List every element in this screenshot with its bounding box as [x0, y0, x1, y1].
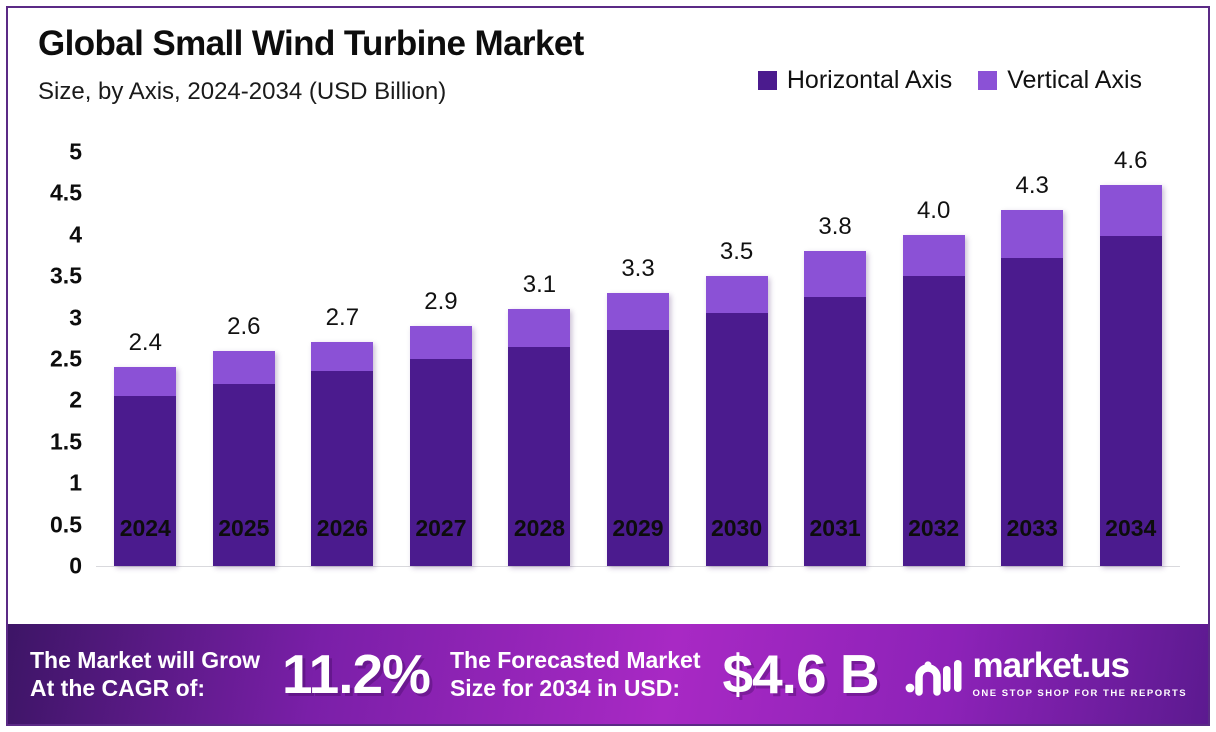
bar-value-label: 3.3 — [621, 255, 654, 283]
bar-segment-vertical-axis[interactable] — [508, 309, 570, 346]
market-us-logo-icon — [905, 652, 963, 696]
footer-size-value: $4.6 B — [723, 642, 879, 706]
bar-value-label: 2.9 — [424, 288, 457, 316]
y-axis-tick-label: 4 — [69, 221, 82, 248]
footer-size-label-line1: The Forecasted Market — [450, 646, 701, 674]
bar-value-label: 4.6 — [1114, 147, 1147, 175]
chart-subtitle: Size, by Axis, 2024-2034 (USD Billion) — [38, 78, 446, 106]
bar-value-label: 2.7 — [326, 304, 359, 332]
bar-value-label: 3.8 — [818, 213, 851, 241]
x-axis-tick-label: 2030 — [687, 515, 786, 542]
chart-title: Global Small Wind Turbine Market — [38, 24, 584, 64]
x-axis-tick-label: 2032 — [884, 515, 983, 542]
bar-value-label: 4.3 — [1016, 172, 1049, 200]
legend-label: Vertical Axis — [1007, 66, 1142, 95]
footer-cagr-label: The Market will Grow At the CAGR of: — [30, 646, 260, 702]
x-axis-tick-label: 2033 — [983, 515, 1082, 542]
x-axis-tick-label: 2025 — [195, 515, 294, 542]
bar-value-label: 2.6 — [227, 313, 260, 341]
bar-segment-vertical-axis[interactable] — [903, 235, 965, 276]
bar-segment-vertical-axis[interactable] — [804, 251, 866, 297]
x-axis-tick-label: 2028 — [490, 515, 589, 542]
legend-item[interactable]: Vertical Axis — [978, 66, 1142, 95]
y-axis: 00.511.522.533.544.55 — [8, 126, 94, 620]
bar-segment-vertical-axis[interactable] — [311, 342, 373, 371]
footer-cagr-label-line1: The Market will Grow — [30, 646, 260, 674]
legend-item[interactable]: Horizontal Axis — [758, 66, 952, 95]
footer-size-label: The Forecasted Market Size for 2034 in U… — [450, 646, 701, 702]
footer-cagr-label-line2: At the CAGR of: — [30, 674, 260, 702]
x-axis-tick-label: 2029 — [589, 515, 688, 542]
y-axis-tick-label: 4.5 — [50, 180, 82, 207]
y-axis-tick-label: 0 — [69, 553, 82, 580]
x-axis: 2024202520262027202820292030203120322033… — [96, 502, 1180, 554]
bar-value-label: 2.4 — [129, 329, 162, 357]
footer-cagr-value: 11.2% — [282, 642, 430, 706]
y-axis-tick-label: 3.5 — [50, 263, 82, 290]
bar-segment-vertical-axis[interactable] — [706, 276, 768, 313]
legend-label: Horizontal Axis — [787, 66, 952, 95]
y-axis-tick-label: 0.5 — [50, 511, 82, 538]
brand-logo[interactable]: market.us ONE STOP SHOP FOR THE REPORTS — [905, 648, 1208, 701]
x-axis-tick-label: 2027 — [392, 515, 491, 542]
y-axis-tick-label: 2.5 — [50, 346, 82, 373]
bar-value-label: 3.1 — [523, 271, 556, 299]
brand-name: market.us — [973, 646, 1129, 685]
bar-segment-vertical-axis[interactable] — [1001, 210, 1063, 258]
footer-size-label-line2: Size for 2034 in USD: — [450, 674, 701, 702]
y-axis-tick-label: 1.5 — [50, 428, 82, 455]
bar-segment-vertical-axis[interactable] — [410, 326, 472, 359]
bar-value-label: 3.5 — [720, 238, 753, 266]
brand-wordmark: market.us ONE STOP SHOP FOR THE REPORTS — [973, 648, 1208, 701]
bar-segment-vertical-axis[interactable] — [607, 293, 669, 330]
x-axis-tick-label: 2024 — [96, 515, 195, 542]
chart-legend: Horizontal AxisVertical Axis — [758, 66, 1142, 95]
bar-segment-vertical-axis[interactable] — [114, 367, 176, 396]
x-axis-tick-label: 2031 — [786, 515, 885, 542]
chart-header: Global Small Wind Turbine Market Size, b… — [8, 8, 1208, 126]
footer-banner: The Market will Grow At the CAGR of: 11.… — [8, 624, 1208, 724]
x-axis-tick-label: 2026 — [293, 515, 392, 542]
y-axis-tick-label: 5 — [69, 139, 82, 166]
legend-swatch-icon — [758, 71, 777, 90]
brand-tagline: ONE STOP SHOP FOR THE REPORTS — [973, 688, 1188, 699]
y-axis-tick-label: 1 — [69, 470, 82, 497]
bar-segment-vertical-axis[interactable] — [213, 351, 275, 384]
x-axis-tick-label: 2034 — [1081, 515, 1180, 542]
legend-swatch-icon — [978, 71, 997, 90]
bar-value-label: 4.0 — [917, 197, 950, 225]
chart-frame: Global Small Wind Turbine Market Size, b… — [6, 6, 1210, 726]
y-axis-tick-label: 2 — [69, 387, 82, 414]
infographic-root: Global Small Wind Turbine Market Size, b… — [0, 0, 1216, 732]
bar-segment-vertical-axis[interactable] — [1100, 185, 1162, 236]
y-axis-tick-label: 3 — [69, 304, 82, 331]
